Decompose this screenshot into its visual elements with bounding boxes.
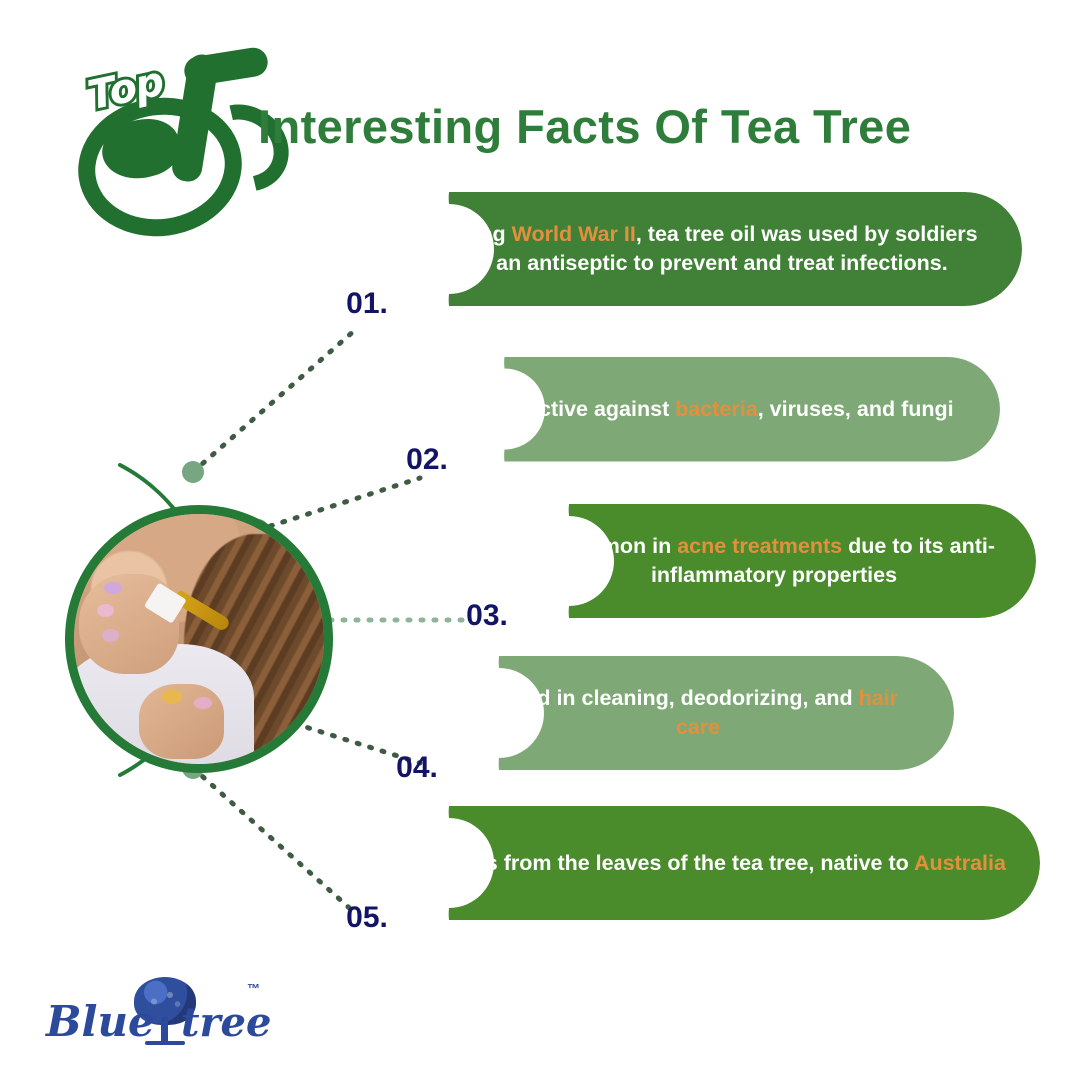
- fact-highlight: bacteria: [675, 397, 757, 421]
- fact-number: 04.: [386, 751, 448, 785]
- fact-plain: Comes from the leaves of the tea tree, n…: [426, 851, 914, 875]
- fact-highlight: World War II: [512, 222, 636, 246]
- fact-number: 02.: [396, 443, 458, 477]
- tree-trunk-icon: [161, 1017, 168, 1043]
- fact-highlight: Australia: [914, 851, 1006, 875]
- page-title: Interesting Facts Of Tea Tree: [258, 99, 911, 154]
- center-photo: [65, 505, 333, 773]
- fact-plain: , viruses, and fungi: [758, 397, 954, 421]
- center-cluster: [40, 430, 390, 830]
- brand-word-blue: Blue: [46, 997, 155, 1046]
- fact-number: 03.: [456, 599, 518, 633]
- fact-number: 05.: [336, 901, 398, 935]
- brand-word-tree: tree: [181, 999, 271, 1046]
- fact-number: 01.: [336, 287, 398, 321]
- trademark-symbol: ™: [247, 981, 260, 996]
- top-5-badge-logo: Top Top: [72, 32, 257, 202]
- fact-highlight: acne treatments: [677, 534, 842, 558]
- fact-plain: Used in cleaning, deodorizing, and: [498, 686, 859, 710]
- brand-logo-blue-tree: Blue tree ™: [42, 975, 277, 1055]
